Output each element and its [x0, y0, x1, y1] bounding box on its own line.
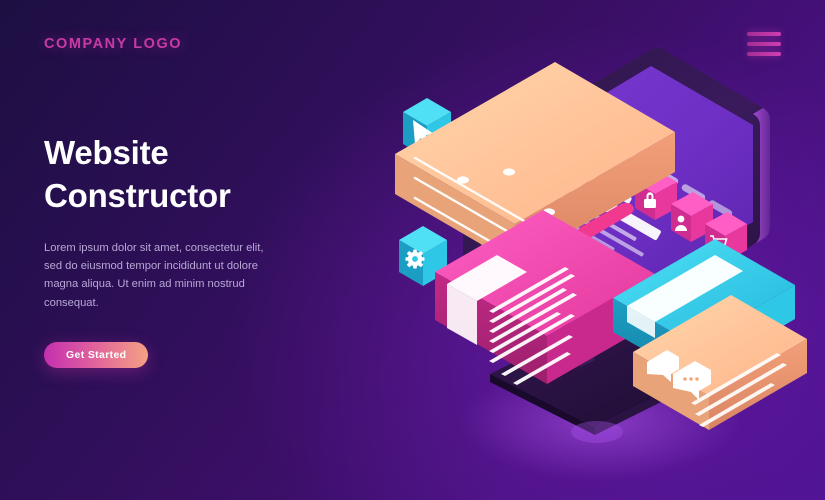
isometric-website-builder-illustration: [385, 22, 825, 482]
page-title-line-2: Constructor: [44, 177, 231, 214]
hero-copy-block: Website Constructor Lorem ipsum dolor si…: [44, 132, 296, 368]
menu-bar-top: [747, 32, 781, 36]
landing-page: COMPANY LOGO Website Constructor Lorem i…: [0, 0, 825, 500]
site-header: COMPANY LOGO: [0, 0, 825, 88]
hamburger-menu-icon[interactable]: [747, 32, 781, 56]
menu-bar-bottom: [747, 52, 781, 56]
company-logo[interactable]: COMPANY LOGO: [44, 36, 182, 52]
page-title-line-1: Website: [44, 134, 169, 171]
menu-bar-middle: [747, 42, 781, 46]
get-started-button[interactable]: Get Started: [44, 342, 148, 368]
hero-description: Lorem ipsum dolor sit amet, consectetur …: [44, 239, 270, 312]
page-title: Website Constructor: [44, 132, 296, 217]
